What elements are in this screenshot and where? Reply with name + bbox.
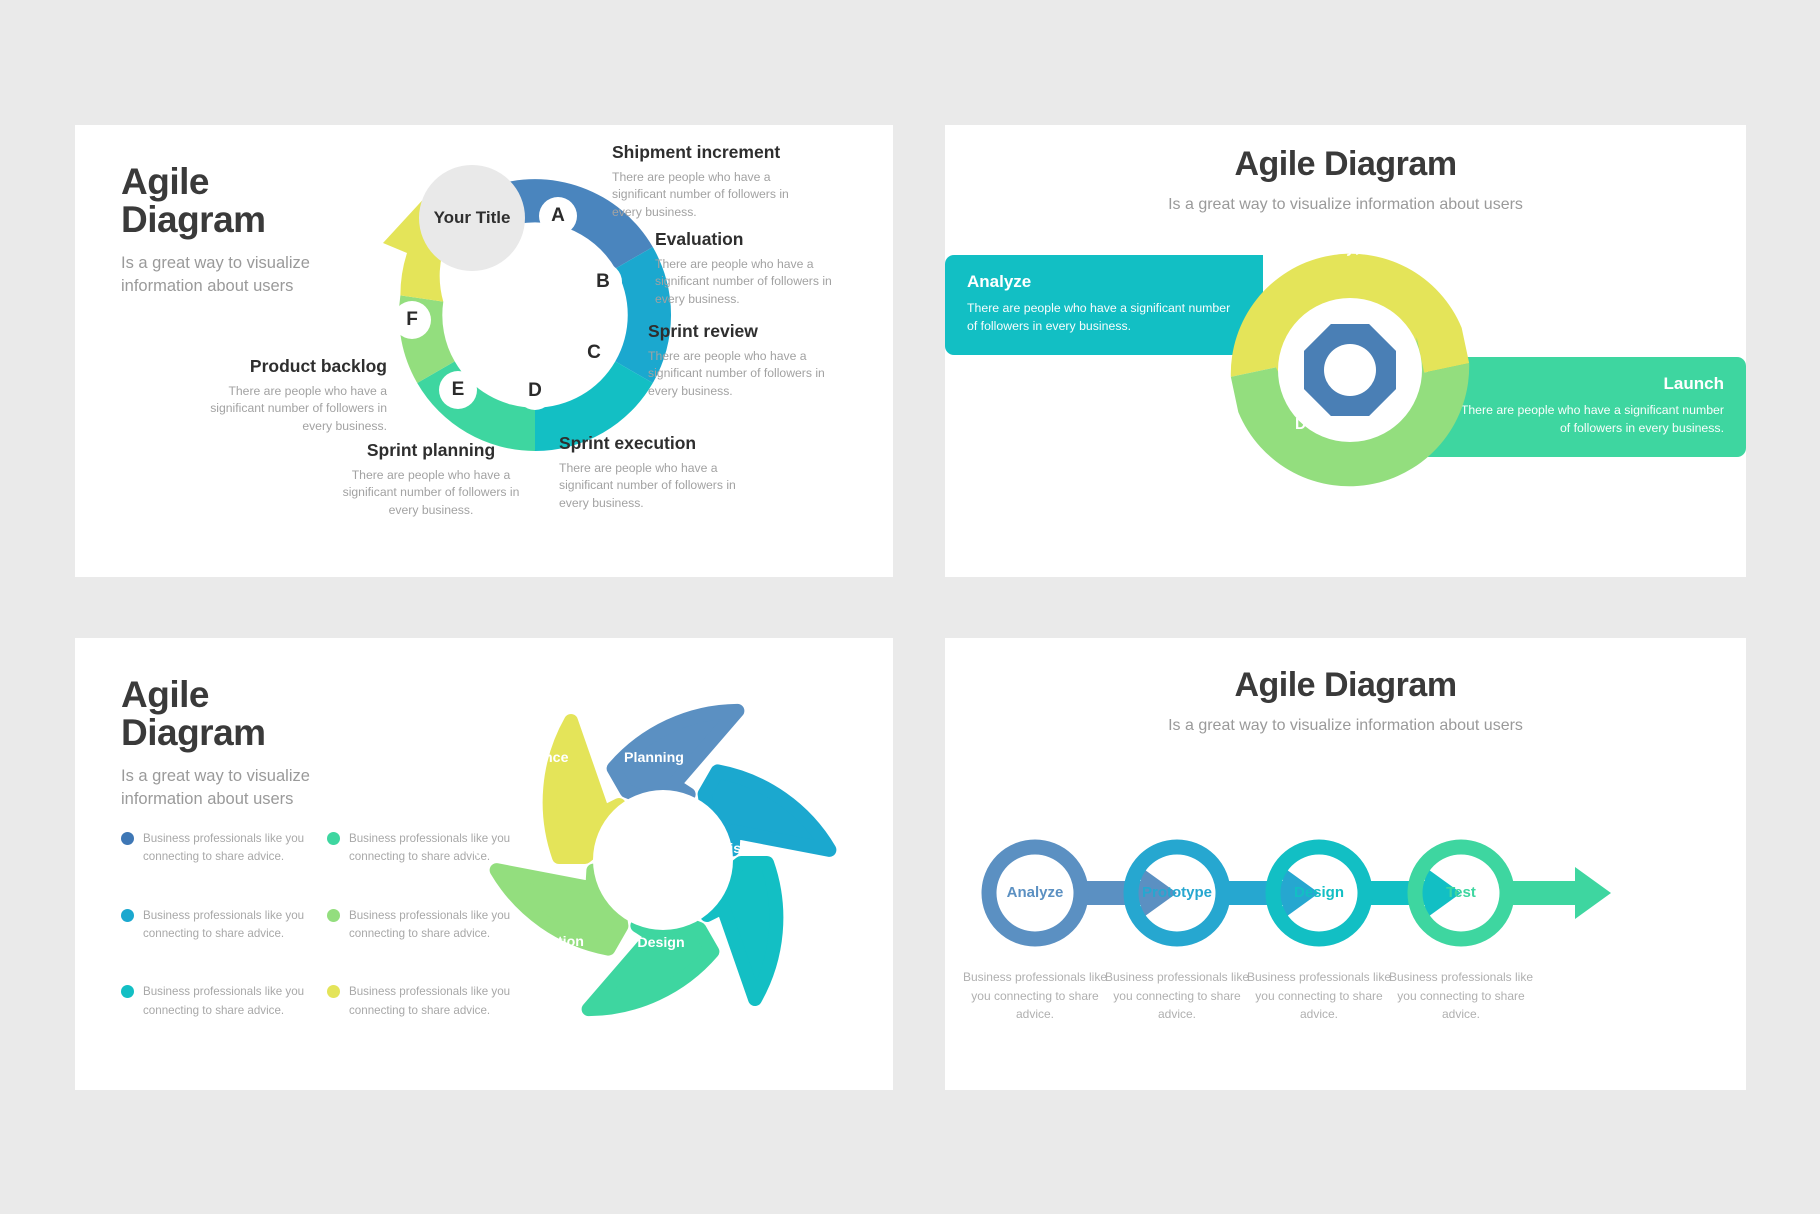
donut-segment-d[interactable]: [417, 361, 535, 451]
label-title: Evaluation: [655, 229, 845, 250]
page-title: Agile Diagram: [121, 676, 310, 751]
panel4-heading: Agile Diagram Is a great way to visualiz…: [945, 668, 1746, 736]
slice-label-maintenance: Maintenance: [468, 750, 583, 766]
label-body: There are people who have a significant …: [187, 383, 387, 435]
step-caption-analyze: Business professionals like you connecti…: [960, 968, 1110, 1024]
label-sprint-review: Sprint review There are people who have …: [648, 321, 838, 400]
label-body: There are people who have a significant …: [612, 169, 802, 221]
subtitle-line-2: information about users: [121, 275, 310, 297]
slide-deck-canvas: Agile Diagram Is a great way to visualiz…: [0, 0, 1820, 1214]
page-subtitle: Is a great way to visualize information …: [945, 194, 1746, 216]
legend-label: Business professionals like you connecti…: [349, 983, 511, 1020]
panel1-heading: Agile Diagram Is a great way to visualiz…: [121, 163, 310, 297]
legend-dot-icon: [121, 832, 134, 845]
gear-wheel-chart: [488, 685, 838, 1035]
node-badge-f[interactable]: F: [393, 301, 431, 339]
four-stage-ring-diagram: [1150, 220, 1550, 520]
label-body: There are people who have a significant …: [331, 467, 531, 519]
legend-dot-icon: [121, 985, 134, 998]
slice-label-testing: Testing: [413, 841, 503, 857]
donut-center-bubble: Your Title: [419, 165, 525, 271]
label-body: There are people who have a significant …: [655, 256, 845, 308]
label-shipment-increment: Shipment increment There are people who …: [612, 142, 802, 221]
page-subtitle: Is a great way to visualize information …: [121, 765, 310, 810]
node-badge-e[interactable]: E: [439, 371, 477, 409]
slice-label-planning: Planning: [609, 750, 699, 766]
legend-dot-icon: [327, 832, 340, 845]
slice-label-design: Design: [616, 935, 706, 951]
node-badge-a[interactable]: A: [539, 197, 577, 235]
subtitle-line-1: Is a great way to visualize: [121, 765, 310, 787]
label-title: Sprint execution: [559, 433, 739, 454]
slice-label-analysis: Analysis: [667, 841, 757, 857]
label-product-backlog: Product backlog There are people who hav…: [187, 356, 387, 435]
arc-label-design: Design: [1295, 416, 1347, 434]
legend-dot-icon: [121, 909, 134, 922]
page-title: Agile Diagram: [945, 668, 1746, 703]
legend-list: Business professionals like you connecti…: [121, 830, 511, 1020]
panel-agile-gear-wheel: Agile Diagram Is a great way to visualiz…: [75, 638, 893, 1090]
legend-dot-icon: [327, 909, 340, 922]
label-evaluation: Evaluation There are people who have a s…: [655, 229, 845, 308]
title-line-1: Agile: [121, 163, 310, 201]
panel-agile-donut: Agile Diagram Is a great way to visualiz…: [75, 125, 893, 577]
page-title: Agile Diagram: [945, 147, 1746, 182]
legend-dot-icon: [327, 985, 340, 998]
donut-center-label: Your Title: [434, 208, 511, 228]
panel-agile-four-stage: Agile Diagram Is a great way to visualiz…: [945, 125, 1746, 577]
step-caption-prototype: Business professionals like you connecti…: [1102, 968, 1252, 1024]
legend-label: Business professionals like you connecti…: [143, 983, 305, 1020]
node-badge-d[interactable]: D: [516, 372, 554, 410]
panel3-heading: Agile Diagram Is a great way to visualiz…: [121, 676, 310, 810]
title-line-2: Diagram: [121, 714, 310, 752]
step-caption-test: Business professionals like you connecti…: [1386, 968, 1536, 1024]
list-item[interactable]: Business professionals like you connecti…: [121, 983, 305, 1020]
title-line-2: Diagram: [121, 201, 310, 239]
title-line-1: Agile: [121, 676, 310, 714]
node-badge-b[interactable]: B: [584, 263, 622, 301]
legend-label: Business professionals like you connecti…: [143, 907, 305, 944]
subtitle-line-2: information about users: [121, 788, 310, 810]
label-title: Product backlog: [187, 356, 387, 377]
panel-agile-linear-chain: Agile Diagram Is a great way to visualiz…: [945, 638, 1746, 1090]
label-title: Shipment increment: [612, 142, 802, 163]
label-title: Sprint review: [648, 321, 838, 342]
wheel-hub: [593, 790, 733, 930]
label-body: There are people who have a significant …: [648, 348, 838, 400]
page-title: Agile Diagram: [121, 163, 310, 238]
slice-label-implementation: Implementation: [469, 934, 594, 950]
label-sprint-execution: Sprint execution There are people who ha…: [559, 433, 739, 512]
legend-label: Business professionals like you connecti…: [143, 830, 305, 867]
label-title: Sprint planning: [331, 440, 531, 461]
step-caption-design: Business professionals like you connecti…: [1244, 968, 1394, 1024]
list-item[interactable]: Business professionals like you connecti…: [121, 907, 305, 944]
node-badge-c[interactable]: C: [575, 334, 613, 372]
label-body: There are people who have a significant …: [559, 460, 739, 512]
panel2-heading: Agile Diagram Is a great way to visualiz…: [945, 147, 1746, 215]
list-item[interactable]: Business professionals like you connecti…: [327, 983, 511, 1020]
list-item[interactable]: Business professionals like you connecti…: [121, 830, 305, 867]
page-subtitle: Is a great way to visualize information …: [945, 715, 1746, 737]
step-label-test: Test: [1371, 884, 1551, 901]
subtitle-line-1: Is a great way to visualize: [121, 252, 310, 274]
label-sprint-planning: Sprint planning There are people who hav…: [331, 440, 531, 519]
page-subtitle: Is a great way to visualize information …: [121, 252, 310, 297]
